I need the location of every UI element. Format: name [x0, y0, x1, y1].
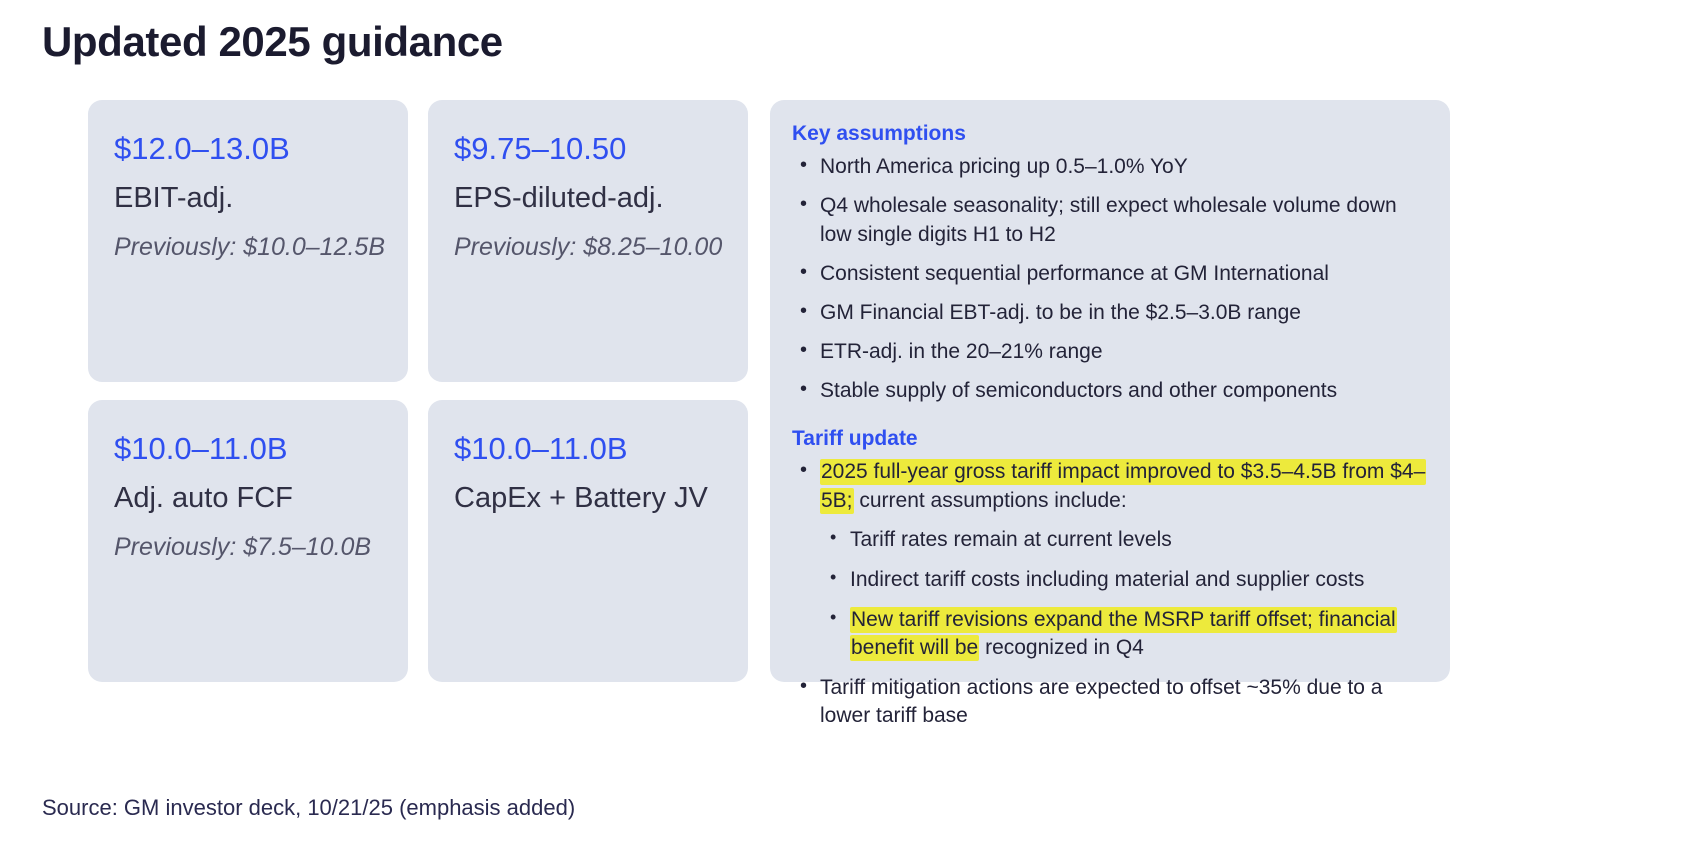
list-item: ETR-adj. in the 20–21% range [792, 338, 1428, 366]
tariff-sub-list: Tariff rates remain at current levels In… [792, 526, 1428, 663]
metric-card-ebit: $12.0–13.0B EBIT-adj. Previously: $10.0–… [88, 100, 408, 382]
metric-label: EPS-diluted-adj. [454, 181, 722, 216]
metric-value: $12.0–13.0B [114, 130, 382, 167]
tariff-update-list-tail: Tariff mitigation actions are expected t… [792, 674, 1428, 730]
list-item: Indirect tariff costs including material… [820, 566, 1428, 594]
list-item: Stable supply of semiconductors and othe… [792, 377, 1428, 405]
metric-card-adj-auto-fcf: $10.0–11.0B Adj. auto FCF Previously: $7… [88, 400, 408, 682]
source-note: Source: GM investor deck, 10/21/25 (emph… [42, 795, 575, 821]
metric-previously: Previously: $8.25–10.00 [454, 232, 722, 262]
list-item-highlighted: 2025 full-year gross tariff impact impro… [792, 458, 1428, 514]
list-item-highlighted: New tariff revisions expand the MSRP tar… [820, 606, 1428, 662]
key-assumptions-heading: Key assumptions [792, 120, 1428, 147]
slide-canvas: Updated 2025 guidance $12.0–13.0B EBIT-a… [0, 0, 1692, 850]
metric-card-eps: $9.75–10.50 EPS-diluted-adj. Previously:… [428, 100, 748, 382]
tariff-update-list: 2025 full-year gross tariff impact impro… [792, 458, 1428, 514]
metric-label: Adj. auto FCF [114, 481, 382, 516]
list-item: North America pricing up 0.5–1.0% YoY [792, 153, 1428, 181]
metric-value: $10.0–11.0B [114, 430, 382, 467]
metric-label: CapEx + Battery JV [454, 481, 722, 516]
list-item: Tariff rates remain at current levels [820, 526, 1428, 554]
metric-value: $9.75–10.50 [454, 130, 722, 167]
list-item: Consistent sequential performance at GM … [792, 260, 1428, 288]
metric-card-capex-battery-jv: $10.0–11.0B CapEx + Battery JV [428, 400, 748, 682]
page-title: Updated 2025 guidance [42, 18, 503, 66]
metric-label: EBIT-adj. [114, 181, 382, 216]
metric-previously: Previously: $10.0–12.5B [114, 232, 382, 262]
key-assumptions-list: North America pricing up 0.5–1.0% YoY Q4… [792, 153, 1428, 405]
bullet-plain-text: current assumptions include: [854, 489, 1127, 512]
metric-value: $10.0–11.0B [454, 430, 722, 467]
assumptions-panel: Key assumptions North America pricing up… [770, 100, 1450, 682]
list-item: Tariff mitigation actions are expected t… [792, 674, 1428, 730]
list-item: Q4 wholesale seasonality; still expect w… [792, 192, 1428, 248]
metric-previously: Previously: $7.5–10.0B [114, 532, 382, 562]
tariff-update-heading: Tariff update [792, 425, 1428, 452]
bullet-plain-text: recognized in Q4 [979, 636, 1144, 659]
list-item: GM Financial EBT-adj. to be in the $2.5–… [792, 299, 1428, 327]
